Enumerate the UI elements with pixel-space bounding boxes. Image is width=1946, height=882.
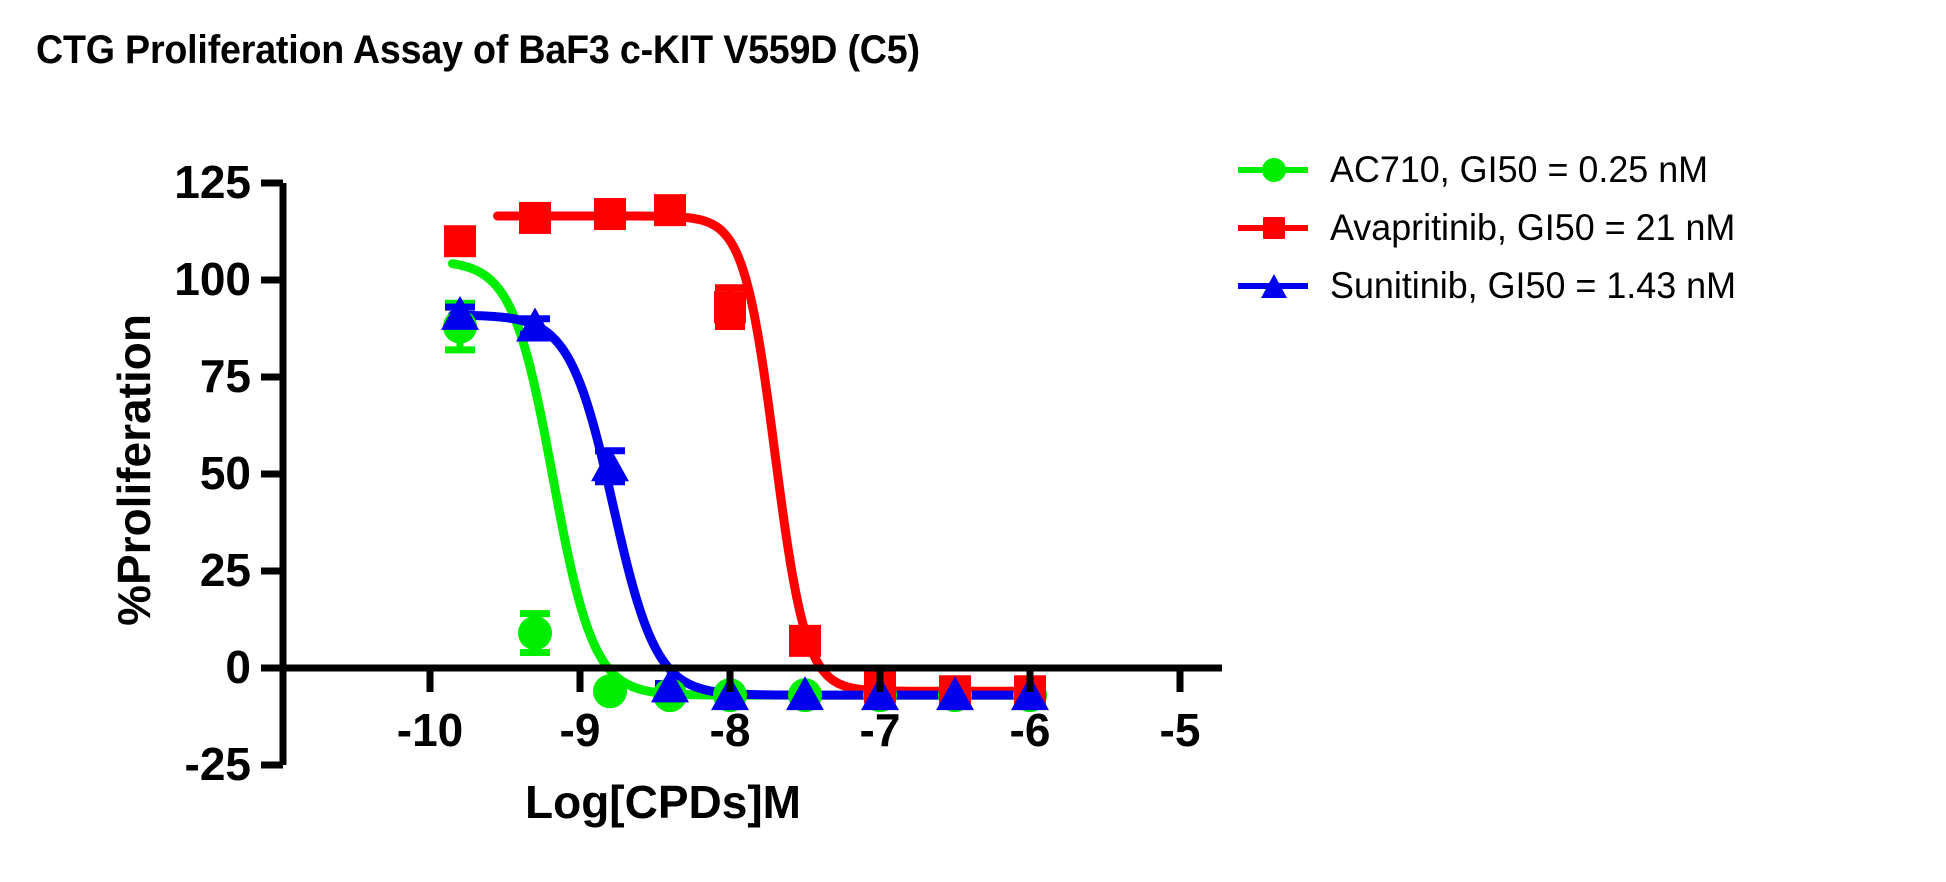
x-axis-title: Log[CPDs]M xyxy=(525,776,801,828)
legend-label-ac710: AC710, GI50 = 0.25 nM xyxy=(1330,151,1708,188)
y-tick-label: -25 xyxy=(185,738,251,790)
legend-label-sunitinib: Sunitinib, GI50 = 1.43 nM xyxy=(1330,267,1736,304)
legend-label-avapritinib: Avapritinib, GI50 = 21 nM xyxy=(1330,209,1735,246)
data-point-square xyxy=(444,225,476,257)
y-tick-label: 75 xyxy=(200,350,251,402)
data-point-square xyxy=(594,198,626,230)
x-tick-label: -10 xyxy=(397,704,463,756)
legend-key-ac710 xyxy=(1238,154,1308,184)
data-point-square xyxy=(714,291,746,323)
x-tick-label: -9 xyxy=(560,704,601,756)
legend: AC710, GI50 = 0.25 nM Avapritinib, GI50 … xyxy=(1238,140,1938,314)
y-tick-label: 50 xyxy=(200,447,251,499)
y-tick-label: 25 xyxy=(200,544,251,596)
legend-item-avapritinib[interactable]: Avapritinib, GI50 = 21 nM xyxy=(1238,198,1938,256)
plot-canvas: 1251007550250-25-10-9-8-7-6-5 Log[CPDs]M… xyxy=(0,0,1946,882)
data-point-circle xyxy=(518,616,552,650)
triangle-marker-icon xyxy=(1261,274,1287,298)
x-tick-label: -8 xyxy=(710,704,751,756)
x-tick-label: -6 xyxy=(1010,704,1051,756)
y-axis-title: %Proliferation xyxy=(108,314,160,626)
data-point-square xyxy=(789,625,821,657)
data-point-square xyxy=(654,194,686,226)
y-tick-label: 0 xyxy=(225,641,251,693)
square-marker-icon xyxy=(1263,217,1285,239)
circle-marker-icon xyxy=(1262,158,1286,182)
curve-square xyxy=(498,216,1031,691)
legend-key-avapritinib xyxy=(1238,212,1308,242)
chart-figure: CTG Proliferation Assay of BaF3 c-KIT V5… xyxy=(0,0,1946,882)
legend-item-sunitinib[interactable]: Sunitinib, GI50 = 1.43 nM xyxy=(1238,256,1938,314)
x-tick-label: -5 xyxy=(1160,704,1201,756)
legend-item-ac710[interactable]: AC710, GI50 = 0.25 nM xyxy=(1238,140,1938,198)
legend-key-sunitinib xyxy=(1238,270,1308,300)
y-tick-label: 100 xyxy=(174,253,251,305)
data-point-square xyxy=(519,202,551,234)
y-tick-label: 125 xyxy=(174,156,251,208)
x-tick-label: -7 xyxy=(860,704,901,756)
